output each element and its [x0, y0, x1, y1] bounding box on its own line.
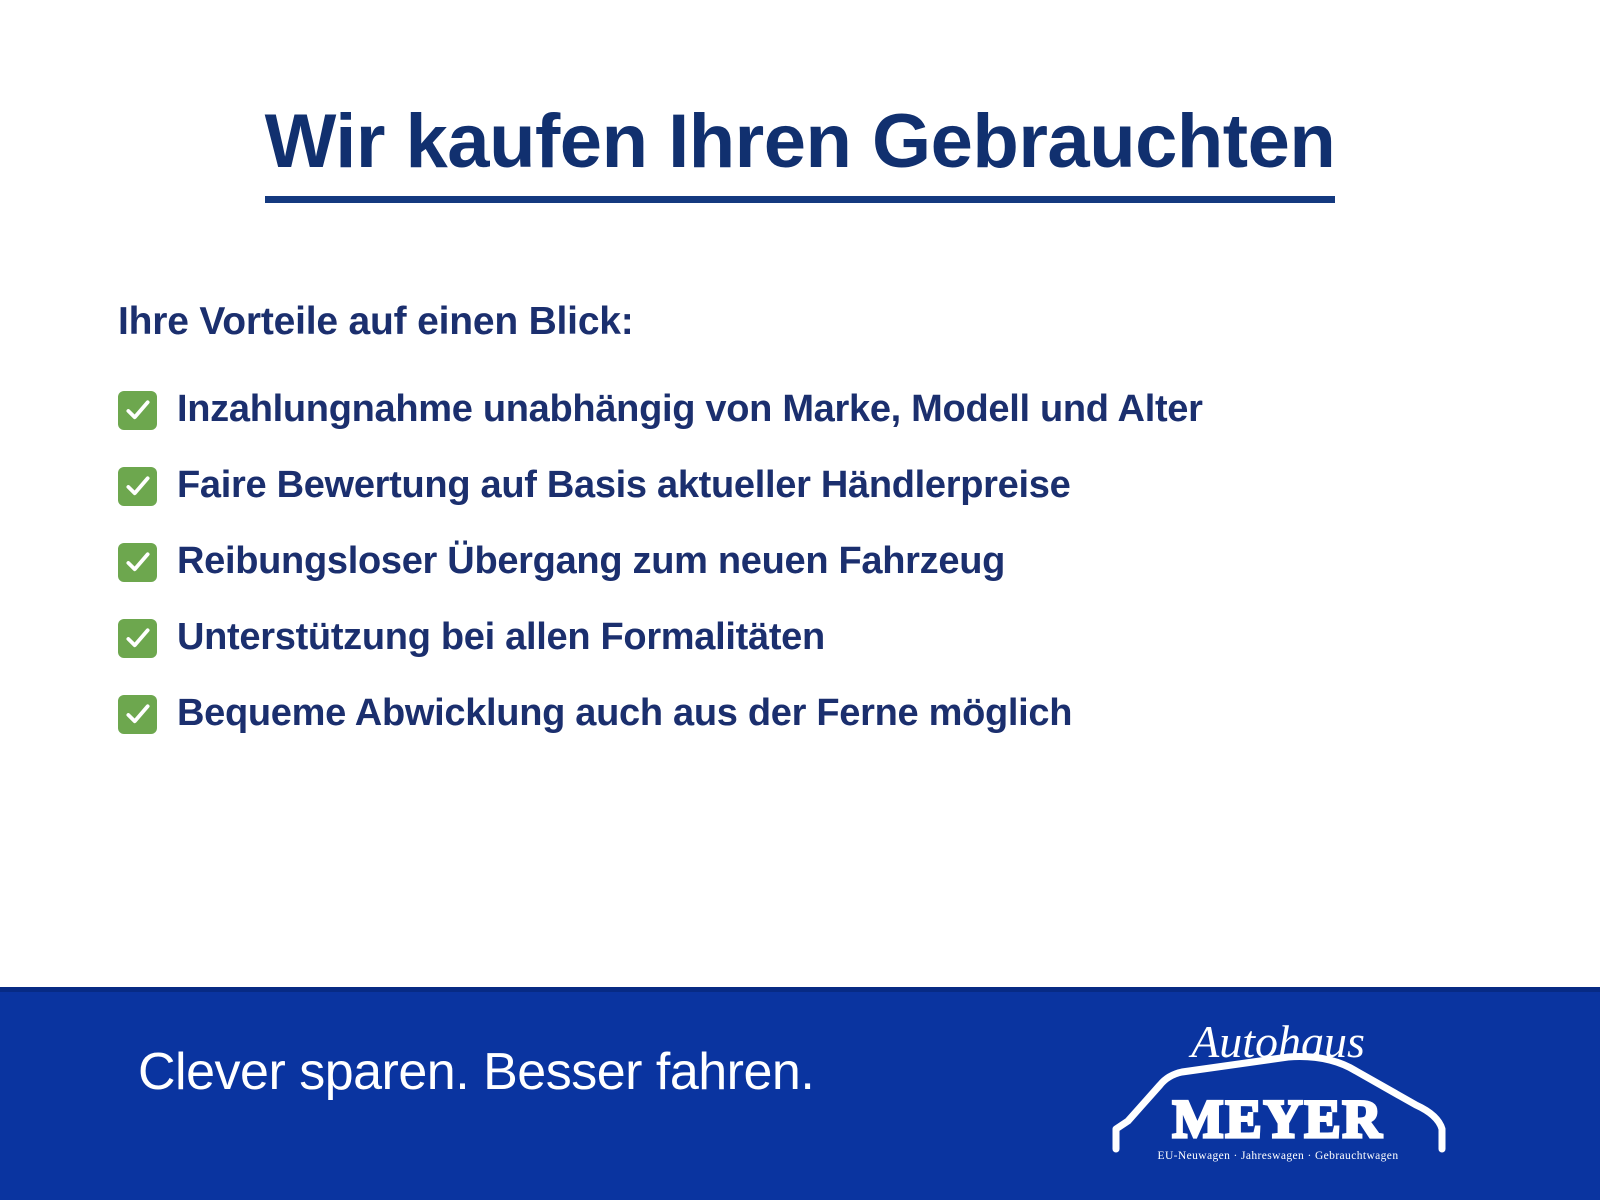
benefits-list: Inzahlungnahme unabhängig von Marke, Mod… — [118, 372, 1538, 752]
list-item-label: Inzahlungnahme unabhängig von Marke, Mod… — [177, 390, 1203, 430]
check-square-icon — [118, 619, 157, 658]
page-title: Wir kaufen Ihren Gebrauchten — [265, 104, 1336, 203]
list-item: Bequeme Abwicklung auch aus der Ferne mö… — [118, 676, 1538, 752]
benefits-heading: Ihre Vorteile auf einen Blick: — [118, 300, 634, 344]
check-square-icon — [118, 543, 157, 582]
list-item: Inzahlungnahme unabhängig von Marke, Mod… — [118, 372, 1538, 448]
check-square-icon — [118, 391, 157, 430]
logo-wordmark: MEYER — [1173, 1089, 1384, 1149]
page-title-block: Wir kaufen Ihren Gebrauchten — [0, 104, 1600, 203]
list-item: Unterstützung bei allen Formalitäten — [118, 600, 1538, 676]
check-square-icon — [118, 467, 157, 506]
list-item-label: Faire Bewertung auf Basis aktueller Händ… — [177, 466, 1070, 506]
logo-subline: EU-Neuwagen · Jahreswagen · Gebrauchtwag… — [1158, 1150, 1399, 1162]
list-item: Faire Bewertung auf Basis aktueller Händ… — [118, 448, 1538, 524]
footer-slogan: Clever sparen. Besser fahren. — [138, 1042, 814, 1102]
autohaus-meyer-logo: Autohaus MEYER EU-Neuwagen · Jahreswagen… — [1098, 1001, 1458, 1167]
advertisement-page: Wir kaufen Ihren Gebrauchten Ihre Vortei… — [0, 0, 1600, 1200]
check-square-icon — [118, 695, 157, 734]
list-item-label: Unterstützung bei allen Formalitäten — [177, 618, 825, 658]
list-item-label: Reibungsloser Übergang zum neuen Fahrzeu… — [177, 542, 1005, 582]
list-item: Reibungsloser Übergang zum neuen Fahrzeu… — [118, 524, 1538, 600]
list-item-label: Bequeme Abwicklung auch aus der Ferne mö… — [177, 694, 1072, 734]
footer-bar: Clever sparen. Besser fahren. Autohaus M… — [0, 987, 1600, 1200]
logo-script-text: Autohaus — [1188, 1016, 1365, 1067]
